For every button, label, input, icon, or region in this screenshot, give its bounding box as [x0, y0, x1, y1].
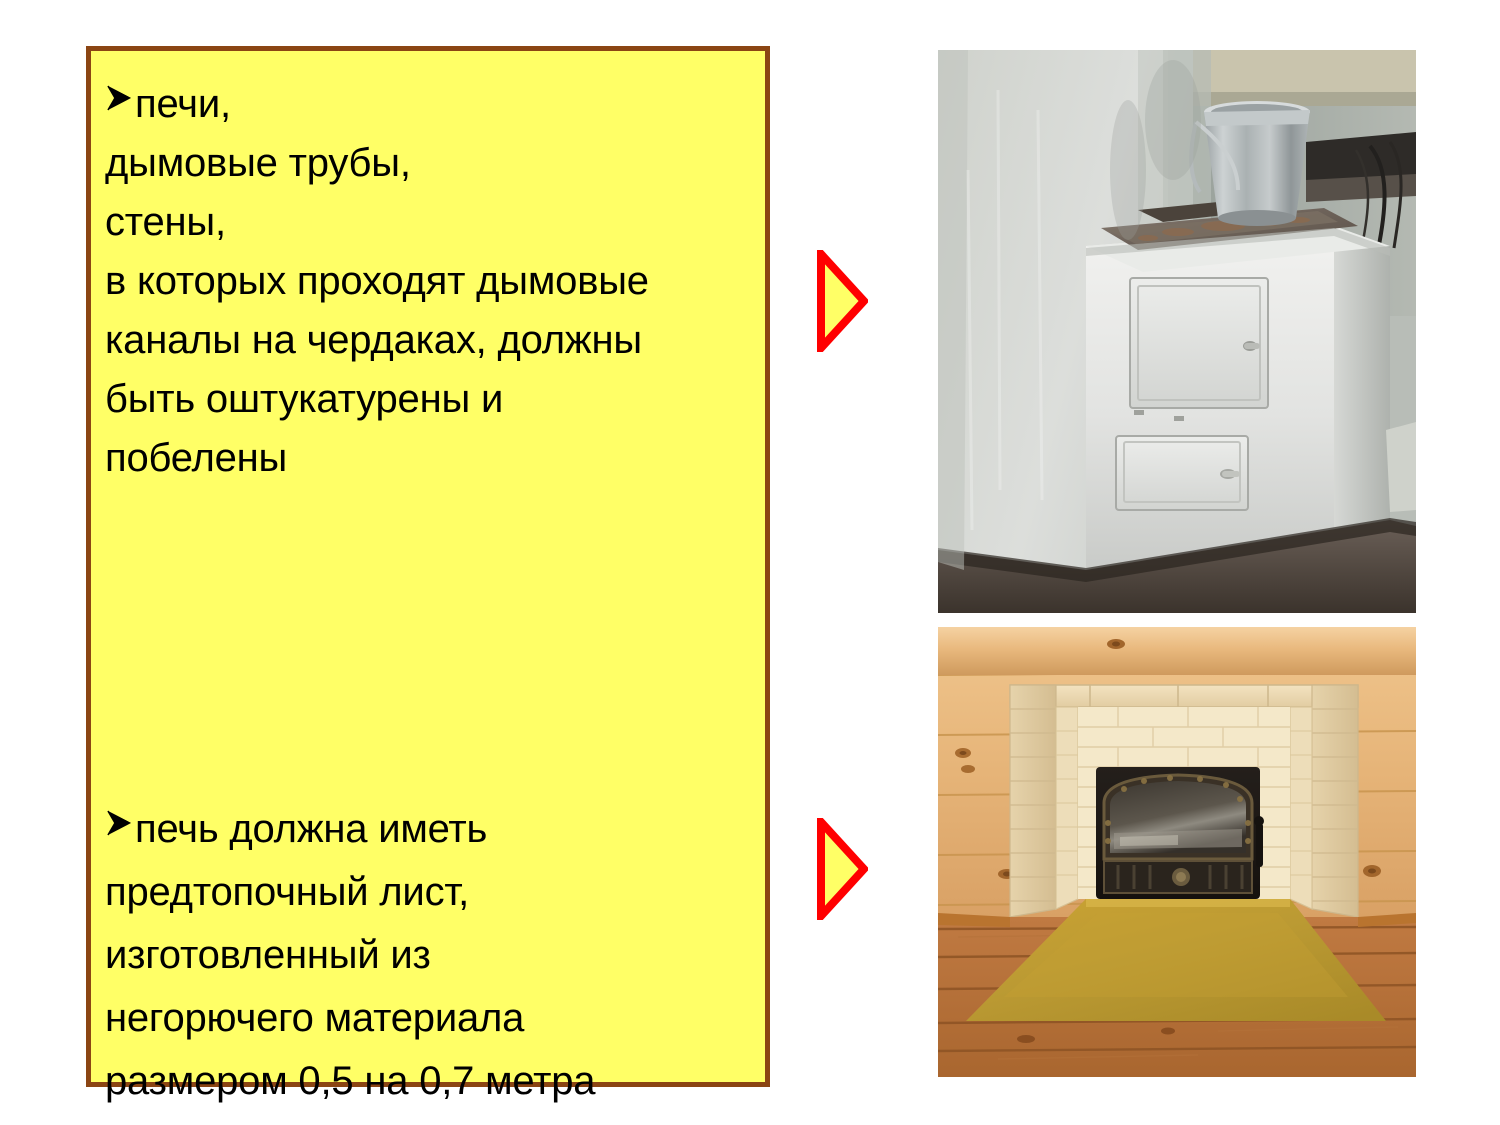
bullet-line-text: негорючего материала [105, 996, 524, 1040]
bullet-line: быть оштукатурены и [105, 370, 765, 429]
whitewashed-stove-photo [938, 50, 1416, 613]
bullet-line-text: предтопочный лист, [105, 870, 469, 914]
bullet-line-text: быть оштукатурены и [105, 377, 503, 421]
bullet-line-text: дымовые трубы, [105, 141, 411, 185]
bullet-line: печи, [105, 75, 765, 134]
bullet-block-stoves: печи, дымовые трубы, стены, в которых пр… [105, 75, 765, 488]
bullet-line-text: побелены [105, 436, 287, 480]
bullet-line-text: печь должна иметь [135, 807, 487, 851]
bullet-line: стены, [105, 193, 765, 252]
bullet-line: дымовые трубы, [105, 134, 765, 193]
bullet-line: негорючего материала [105, 987, 765, 1050]
bullet-line: в которых проходят дымовые [105, 252, 765, 311]
bullet-line-text: печи, [135, 82, 231, 126]
bullet-line-text: в которых проходят дымовые [105, 259, 649, 303]
yellow-content-panel: печи, дымовые трубы, стены, в которых пр… [86, 46, 770, 1087]
bullet-line-text: изготовленный из [105, 933, 431, 977]
pointer-arrow-top [816, 250, 868, 352]
bullet-line-text: размером 0,5 на 0,7 метра [105, 1059, 595, 1103]
bullet-line: печь должна иметь [105, 798, 765, 861]
bullet-line: предтопочный лист, [105, 861, 765, 924]
bullet-line: каналы на чердаках, должны [105, 311, 765, 370]
bullet-line: изготовленный из [105, 924, 765, 987]
bullet-line: побелены [105, 429, 765, 488]
bullet-line-text: стены, [105, 200, 226, 244]
arrow-bullet-icon [105, 81, 135, 115]
bullet-line-text: каналы на чердаках, должны [105, 318, 642, 362]
arrow-bullet-icon [105, 806, 135, 840]
bullet-block-hearth-sheet: печь должна иметь предтопочный лист, изг… [105, 798, 765, 1113]
pointer-arrow-bottom [816, 818, 868, 920]
fireplace-with-hearth-sheet-photo [938, 627, 1416, 1077]
bullet-line: размером 0,5 на 0,7 метра [105, 1050, 765, 1113]
